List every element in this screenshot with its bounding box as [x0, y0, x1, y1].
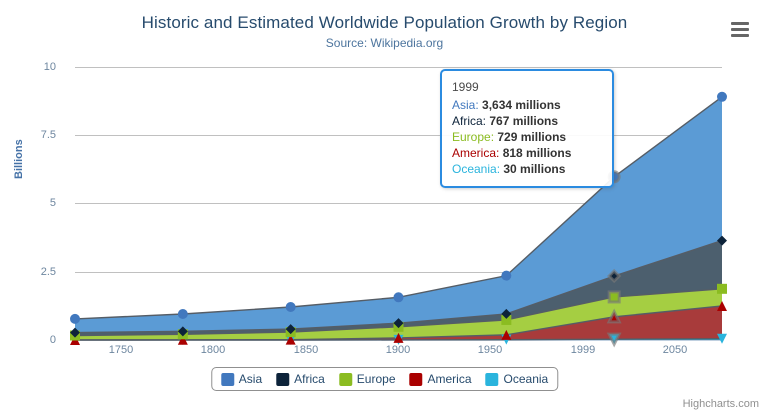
marker-asia-1850[interactable]	[286, 302, 296, 312]
legend-label: America	[428, 372, 472, 386]
legend-swatch-icon	[221, 373, 234, 386]
legend-swatch-icon	[276, 373, 289, 386]
marker-africa-1999[interactable]	[609, 271, 619, 281]
tooltip-series-name: Oceania:	[452, 162, 503, 176]
tooltip-row-africa: Africa: 767 millions	[452, 113, 602, 129]
tooltip-series-value: 3,634 millions	[482, 98, 561, 112]
tooltip: 1999 Asia: 3,634 millionsAfrica: 767 mil…	[440, 69, 614, 188]
legend-swatch-icon	[486, 373, 499, 386]
tooltip-row-america: America: 818 millions	[452, 145, 602, 161]
legend-item-europe[interactable]: Europe	[339, 372, 396, 386]
tooltip-series-value: 30 millions	[503, 162, 565, 176]
legend: AsiaAfricaEuropeAmericaOceania	[211, 367, 558, 391]
marker-asia-1950[interactable]	[501, 271, 511, 281]
marker-europe-1999[interactable]	[609, 292, 619, 302]
legend-swatch-icon	[410, 373, 423, 386]
legend-item-oceania[interactable]: Oceania	[486, 372, 549, 386]
marker-oceania-1999[interactable]	[609, 334, 619, 344]
tooltip-rows: Asia: 3,634 millionsAfrica: 767 millions…	[452, 97, 602, 177]
tooltip-series-name: Europe:	[452, 130, 497, 144]
credits-link[interactable]: Highcharts.com	[683, 398, 759, 410]
legend-label: Oceania	[504, 372, 549, 386]
marker-asia-1900[interactable]	[394, 292, 404, 302]
marker-asia-1800[interactable]	[178, 309, 188, 319]
marker-europe-2050[interactable]	[717, 284, 727, 294]
tooltip-header: 1999	[452, 79, 602, 97]
tooltip-series-name: Africa:	[452, 114, 489, 128]
tooltip-row-asia: Asia: 3,634 millions	[452, 97, 602, 113]
tooltip-series-name: America:	[452, 146, 503, 160]
legend-label: Asia	[239, 372, 262, 386]
legend-label: Europe	[357, 372, 396, 386]
legend-item-africa[interactable]: Africa	[276, 372, 325, 386]
legend-swatch-icon	[339, 373, 352, 386]
marker-asia-2050[interactable]	[717, 92, 727, 102]
tooltip-row-europe: Europe: 729 millions	[452, 129, 602, 145]
tooltip-row-oceania: Oceania: 30 millions	[452, 161, 602, 177]
series-layer	[0, 0, 769, 416]
legend-item-asia[interactable]: Asia	[221, 372, 262, 386]
tooltip-series-value: 818 millions	[503, 146, 572, 160]
legend-label: Africa	[294, 372, 325, 386]
highcharts-chart: Historic and Estimated Worldwide Populat…	[0, 0, 769, 416]
legend-item-america[interactable]: America	[410, 372, 472, 386]
marker-asia-1750[interactable]	[70, 314, 80, 324]
tooltip-series-name: Asia:	[452, 98, 482, 112]
tooltip-series-value: 729 millions	[497, 130, 566, 144]
tooltip-series-value: 767 millions	[489, 114, 558, 128]
